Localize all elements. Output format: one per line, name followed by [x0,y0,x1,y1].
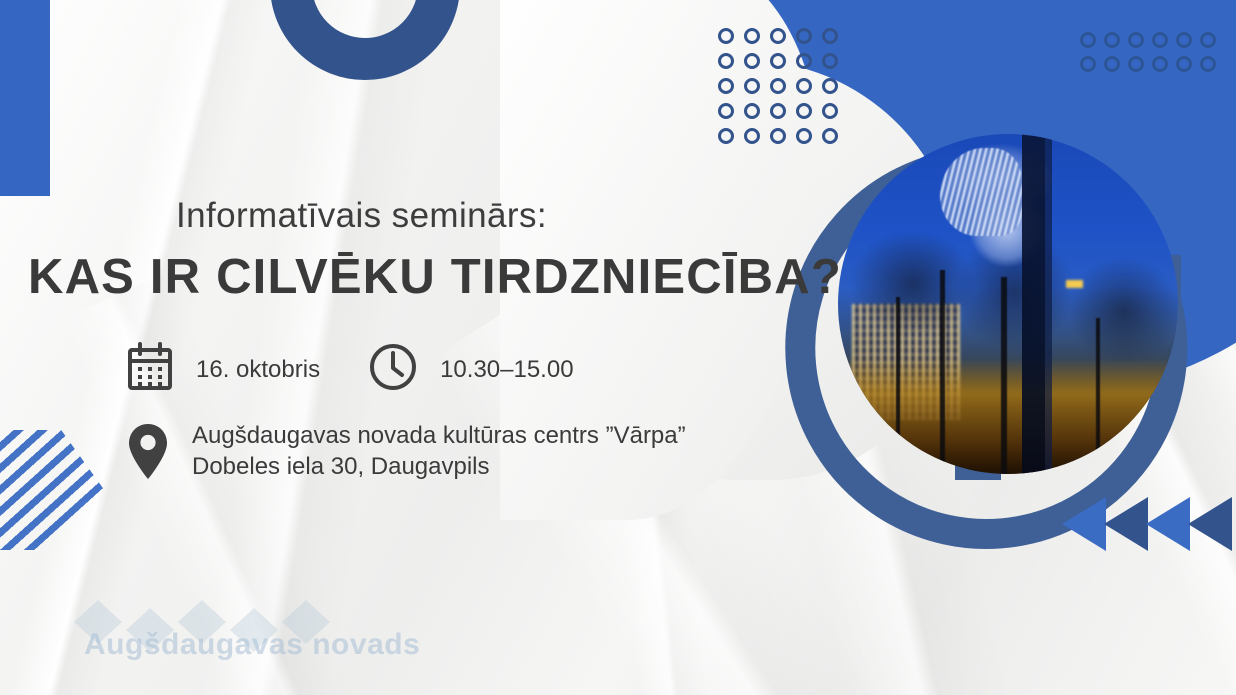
dot [770,128,786,144]
dot [796,28,812,44]
dot [718,103,734,119]
dot [744,53,760,69]
dot [796,103,812,119]
venue-row: Augšdaugavas novada kultūras centrs ”Vār… [126,420,686,487]
dot-grid-right [1080,32,1224,80]
dot [744,103,760,119]
dot [770,53,786,69]
dot [796,78,812,94]
photo-mannequin-hair [940,148,1022,236]
location-pin-icon [126,422,170,487]
dot [1128,32,1144,48]
dot-grid-left [718,28,848,153]
dot [822,103,838,119]
venue-line-1: Augšdaugavas novada kultūras centrs ”Vār… [192,420,686,451]
dot [1152,32,1168,48]
triangle-decoration [1104,497,1148,551]
event-photo [838,134,1178,474]
calendar-icon [126,342,174,397]
dot [822,53,838,69]
dot [744,78,760,94]
dot [1152,56,1168,72]
dot [796,53,812,69]
dot [822,78,838,94]
photo-tree-trunk [896,297,900,474]
triangle-decoration [1146,497,1190,551]
blue-bar-decoration [0,0,50,196]
dot [1104,56,1120,72]
dot [822,28,838,44]
dot [1104,32,1120,48]
dot [796,128,812,144]
dot [1080,56,1096,72]
dot [770,78,786,94]
venue-line-2: Dobeles iela 30, Daugavpils [192,451,686,482]
dot [1128,56,1144,72]
dot [1200,56,1216,72]
photo-window-frame [1045,134,1052,474]
venue-text-block: Augšdaugavas novada kultūras centrs ”Vār… [192,420,686,482]
photo-tree-trunk [940,270,945,474]
dot [1200,32,1216,48]
photo-street-lamp [1066,280,1083,288]
clock-icon [368,342,418,397]
dot [822,128,838,144]
triangle-decoration [1062,497,1106,551]
date-time-row: 16. oktobris 10.30–15.00 [126,342,574,397]
event-time: 10.30–15.00 [440,354,573,385]
dot [744,128,760,144]
dot [744,28,760,44]
dot [770,28,786,44]
triangle-decoration [1188,497,1232,551]
dot [718,128,734,144]
event-date: 16. oktobris [196,354,320,385]
poster-headline: KAS IR CILVĒKU TIRDZNIECĪBA? [28,249,842,305]
dot [1176,32,1192,48]
dot [1080,32,1096,48]
event-poster: Informatīvais seminārs: KAS IR CILVĒKU T… [0,0,1236,695]
partner-logo-strip: Embassy of Sweden Rīga Ziemeļvalstu Min [0,583,1236,695]
dot [1176,56,1192,72]
dot [718,28,734,44]
poster-subtitle: Informatīvais seminārs: [176,196,547,236]
dot [718,78,734,94]
dot [718,53,734,69]
photo-window-frame [1022,134,1046,474]
photo-tree-trunk [1001,277,1007,474]
photo-tree-trunk [1096,318,1100,474]
dot [770,103,786,119]
